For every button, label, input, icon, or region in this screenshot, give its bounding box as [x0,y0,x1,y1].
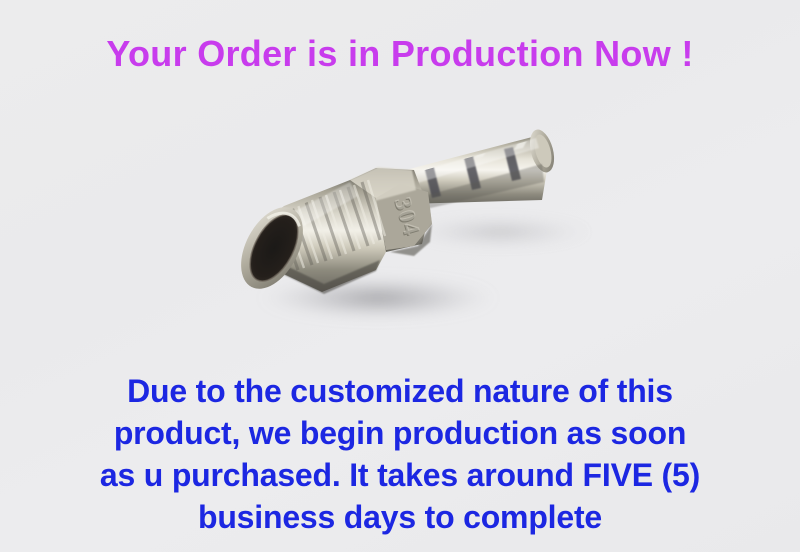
body-line-3: as u purchased. It takes around FIVE (5) [0,454,800,496]
product-photo: 304 304 [200,120,620,380]
body-copy: Due to the customized nature of this pro… [0,370,800,538]
page-title: Your Order is in Production Now ! [0,33,800,75]
promo-banner: Your Order is in Production Now ! [0,0,800,552]
body-line-4: business days to complete [0,496,800,538]
body-line-2: product, we begin production as soon [0,412,800,454]
body-line-1: Due to the customized nature of this [0,370,800,412]
